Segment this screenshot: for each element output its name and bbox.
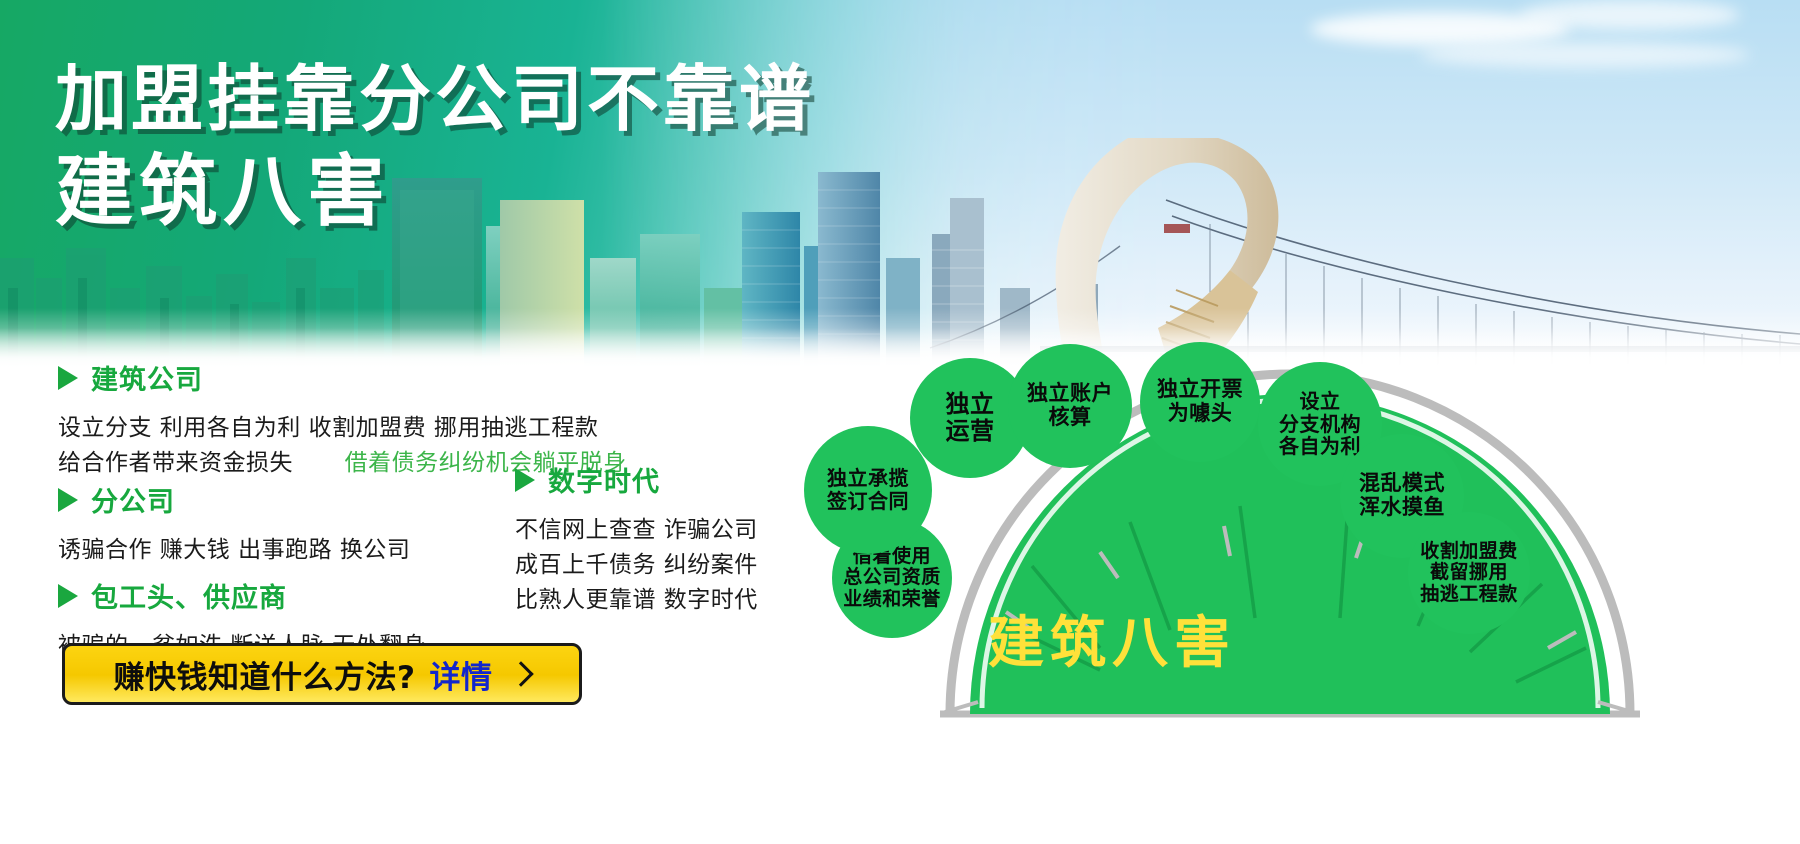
section-header: 分公司 xyxy=(58,480,410,519)
section-header: 数字时代 xyxy=(515,460,758,499)
bubble-b8[interactable]: 收割加盟费 截留挪用 抽逃工程款 xyxy=(1408,512,1530,634)
bubble-b5[interactable]: 独立开票 为噱头 xyxy=(1140,342,1260,462)
banner-title: 加盟挂靠分公司不靠谱 建筑八害 xyxy=(55,58,815,238)
section-line-black: 给合作者带来资金损失 xyxy=(58,450,293,476)
triangle-right-icon xyxy=(58,488,78,512)
bubble-text: 独立开票 为噱头 xyxy=(1157,378,1243,426)
bubble-text: 独立承揽 签订合同 xyxy=(827,467,909,513)
bubble-text: 混乱模式 浑水摸鱼 xyxy=(1359,472,1445,520)
triangle-right-icon xyxy=(58,584,78,608)
bubble-text: 设立 分支机构 各自为利 xyxy=(1279,390,1361,458)
triangle-right-icon xyxy=(515,468,535,492)
dome-center-label: 建筑八害 xyxy=(988,598,1236,679)
bubble-b2[interactable]: 独立承揽 签订合同 xyxy=(804,426,932,554)
chevron-right-icon xyxy=(509,661,534,686)
section-line: 成百上千债务 纠纷案件 xyxy=(515,548,758,583)
banner-title-line1: 加盟挂靠分公司不靠谱 xyxy=(55,58,815,142)
bubble-diagram: 建筑八害 借着使用 总公司资质 业绩和荣誉 独立承揽 签订合同 独立 运营 独立… xyxy=(800,330,1800,844)
section-line: 诱骗合作 赚大钱 出事跑路 换公司 xyxy=(58,533,410,568)
cta-question: 赚快钱知道什么方法? xyxy=(114,652,416,697)
section-line: 不信网上查查 诈骗公司 xyxy=(515,513,758,548)
section-line: 设立分支 利用各自为利 收割加盟费 挪用抽逃工程款 xyxy=(58,411,627,446)
bubble-text: 借着使用 总公司资质 业绩和荣誉 xyxy=(843,546,941,611)
section-title: 包工头、供应商 xyxy=(91,576,287,615)
bubble-b4[interactable]: 独立账户 核算 xyxy=(1008,344,1132,468)
section-digital-era: 数字时代 不信网上查查 诈骗公司 成百上千债务 纠纷案件 比熟人更靠谱 数字时代 xyxy=(515,460,758,618)
section-header: 包工头、供应商 xyxy=(58,576,426,615)
bubble-text: 独立账户 核算 xyxy=(1027,382,1113,430)
triangle-right-icon xyxy=(58,366,78,390)
section-title: 分公司 xyxy=(91,480,175,519)
section-body: 不信网上查查 诈骗公司 成百上千债务 纠纷案件 比熟人更靠谱 数字时代 xyxy=(515,513,758,618)
bubble-text: 独立 运营 xyxy=(946,391,995,446)
section-body: 诱骗合作 赚大钱 出事跑路 换公司 xyxy=(58,533,410,568)
cta-button[interactable]: 赚快钱知道什么方法? 详情 xyxy=(62,643,582,705)
banner-title-line2: 建筑八害 xyxy=(55,146,815,238)
bubble-text: 收割加盟费 截留挪用 抽逃工程款 xyxy=(1420,541,1518,606)
content-area: 建筑公司 设立分支 利用各自为利 收割加盟费 挪用抽逃工程款 给合作者带来资金损… xyxy=(0,368,900,844)
cta-link-label[interactable]: 详情 xyxy=(429,652,492,697)
section-title: 数字时代 xyxy=(548,460,660,499)
poster-page: 加盟挂靠分公司不靠谱 建筑八害 建筑公司 设立分支 利用各自为利 收割加盟费 挪… xyxy=(0,0,1800,844)
section-branch-company: 分公司 诱骗合作 赚大钱 出事跑路 换公司 xyxy=(58,480,410,568)
section-title: 建筑公司 xyxy=(91,358,203,397)
cloud-decoration xyxy=(1420,42,1750,68)
cloud-decoration xyxy=(1520,0,1740,30)
hero-banner: 加盟挂靠分公司不靠谱 建筑八害 xyxy=(0,0,1800,368)
section-line: 比熟人更靠谱 数字时代 xyxy=(515,583,758,618)
section-header: 建筑公司 xyxy=(58,358,627,397)
